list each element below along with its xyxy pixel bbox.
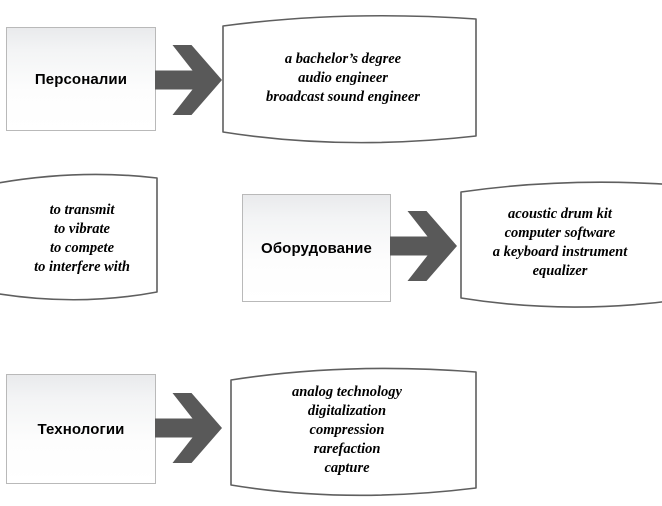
term-shape-verbs[interactable]: to transmit to vibrate to compete to int… bbox=[0, 172, 164, 305]
term-list-technologies: analog technology digitalization compres… bbox=[226, 358, 468, 502]
term-item: analog technology bbox=[292, 383, 402, 402]
term-item: rarefaction bbox=[314, 440, 381, 459]
category-box-technologies-label: Технологии bbox=[38, 421, 125, 438]
term-shape-technologies[interactable]: analog technology digitalization compres… bbox=[226, 358, 468, 502]
term-shape-equipment[interactable]: acoustic drum kit computer software a ke… bbox=[456, 176, 662, 310]
right-chevron-arrow-equipment bbox=[390, 208, 458, 284]
concept-diagram: Персоналии a bachelor’s degree audio eng… bbox=[0, 0, 662, 506]
verb-item: to compete bbox=[50, 239, 114, 258]
right-chevron-arrow-icon bbox=[155, 42, 223, 118]
term-item: digitalization bbox=[308, 402, 386, 421]
term-list-personalities: a bachelor’s degree audio engineer broad… bbox=[218, 8, 468, 148]
category-box-personalities-label: Персоналии bbox=[35, 71, 127, 88]
category-box-technologies[interactable]: Технологии bbox=[6, 374, 156, 484]
term-list-equipment: acoustic drum kit computer software a ke… bbox=[456, 176, 662, 310]
term-item: capture bbox=[324, 459, 369, 478]
term-item: compression bbox=[310, 421, 385, 440]
right-chevron-arrow-icon bbox=[155, 390, 223, 466]
category-box-equipment-label: Оборудование bbox=[261, 240, 372, 257]
term-item: broadcast sound engineer bbox=[266, 88, 420, 107]
term-item: computer software bbox=[505, 224, 616, 243]
right-chevron-arrow-personalities bbox=[155, 42, 223, 118]
verb-item: to interfere with bbox=[34, 258, 130, 277]
category-box-personalities[interactable]: Персоналии bbox=[6, 27, 156, 131]
term-item: audio engineer bbox=[298, 69, 388, 88]
term-item: a bachelor’s degree bbox=[285, 50, 401, 69]
verb-list: to transmit to vibrate to compete to int… bbox=[0, 172, 164, 305]
term-shape-personalities[interactable]: a bachelor’s degree audio engineer broad… bbox=[218, 8, 468, 148]
verb-item: to vibrate bbox=[54, 220, 110, 239]
term-item: a keyboard instrument bbox=[493, 243, 628, 262]
category-box-equipment[interactable]: Оборудование bbox=[242, 194, 391, 302]
verb-item: to transmit bbox=[50, 201, 115, 220]
term-item: equalizer bbox=[533, 262, 588, 281]
right-chevron-arrow-icon bbox=[390, 208, 458, 284]
right-chevron-arrow-technologies bbox=[155, 390, 223, 466]
term-item: acoustic drum kit bbox=[508, 205, 612, 224]
